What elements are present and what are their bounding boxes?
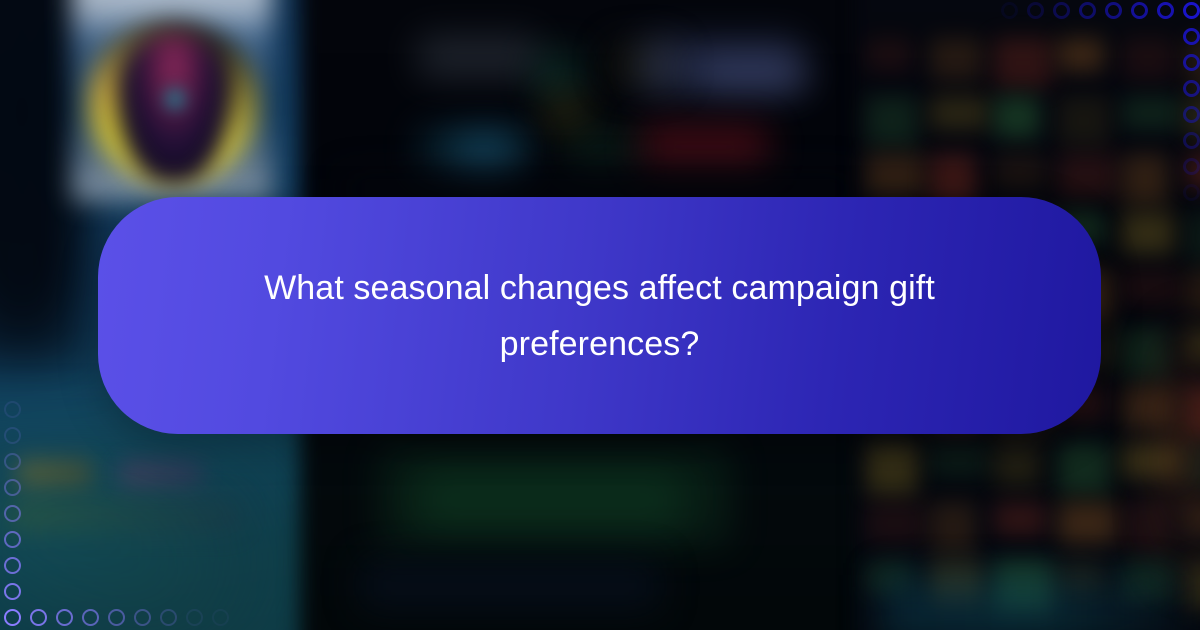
- ring-dot: [1157, 2, 1174, 19]
- background-patch: [640, 126, 768, 168]
- ring-dot: [4, 427, 21, 444]
- background-thumbnail-tile: [930, 444, 988, 478]
- ring-dot: [1027, 2, 1044, 19]
- background-thumbnail-tile: [930, 502, 976, 552]
- background-patch: [455, 134, 513, 172]
- background-thumbnail-tile: [930, 38, 982, 80]
- ring-dot: [1131, 2, 1148, 19]
- ring-dot: [1183, 184, 1200, 201]
- background-right-glow: [1150, 300, 1200, 600]
- ring-dot: [1001, 2, 1018, 19]
- background-thumbnail-tile: [1122, 96, 1180, 130]
- ring-dot: [1183, 54, 1200, 71]
- background-patch: [566, 130, 636, 168]
- background-thumbnail-tile: [1122, 154, 1168, 204]
- screenshot-stage: What seasonal changes affect campaign gi…: [0, 0, 1200, 630]
- background-chip-amber: [18, 460, 92, 486]
- emblem-glint: [163, 86, 187, 112]
- background-chip-green: [10, 500, 240, 530]
- background-thumbnail-tile: [866, 154, 924, 196]
- background-thumbnail-tile: [1058, 96, 1110, 146]
- background-thumbnail-tile: [1058, 502, 1116, 544]
- background-thumbnail-tile: [1122, 38, 1174, 80]
- background-thumbnail-tile: [994, 154, 1046, 188]
- background-thumbnail-tile: [930, 96, 988, 130]
- background-patch: [420, 470, 680, 530]
- background-thumbnail-tile: [994, 444, 1040, 486]
- ring-dot: [1105, 2, 1122, 19]
- ring-dot: [56, 609, 73, 626]
- background-patch: [535, 52, 581, 96]
- background-thumbnail-tile: [1058, 444, 1110, 494]
- ring-dot: [4, 505, 21, 522]
- ring-dot: [1183, 158, 1200, 175]
- background-patch: [545, 96, 587, 130]
- question-card[interactable]: What seasonal changes affect campaign gi…: [98, 197, 1101, 434]
- ring-dot: [4, 557, 21, 574]
- ring-dot: [134, 609, 151, 626]
- background-patch: [700, 60, 810, 88]
- ring-dot: [1183, 2, 1200, 19]
- ring-dot: [4, 609, 21, 626]
- ring-dot: [4, 479, 21, 496]
- ring-dot: [1183, 80, 1200, 97]
- background-patch: [360, 560, 660, 610]
- ring-dot: [1079, 2, 1096, 19]
- ring-dot: [4, 401, 21, 418]
- ring-dot: [82, 609, 99, 626]
- background-thumbnail-tile: [994, 502, 1046, 536]
- ring-dot: [30, 609, 47, 626]
- background-thumbnail-tile: [866, 502, 924, 544]
- background-patch: [418, 36, 538, 78]
- ring-dot: [160, 609, 177, 626]
- background-thumbnail-tile: [866, 38, 912, 72]
- question-text: What seasonal changes affect campaign gi…: [205, 260, 995, 372]
- background-thumbnail-tile: [1058, 154, 1116, 196]
- ring-dot: [1183, 106, 1200, 123]
- ring-dot: [1183, 28, 1200, 45]
- background-chip-violet: [120, 462, 202, 486]
- ring-dot: [4, 583, 21, 600]
- ring-dot: [186, 609, 203, 626]
- ring-dot: [212, 609, 229, 626]
- ring-dot: [4, 531, 21, 548]
- ring-dot: [4, 453, 21, 470]
- background-thumbnail-tile: [1122, 212, 1174, 254]
- background-thumbnail-tile: [994, 96, 1040, 138]
- background-bottom-teal: [880, 575, 1180, 630]
- background-thumbnail-tile: [1122, 270, 1180, 304]
- ring-dot: [108, 609, 125, 626]
- ring-dot: [1053, 2, 1070, 19]
- background-thumbnail-tile: [866, 444, 918, 494]
- background-thumbnail-tile: [866, 96, 918, 146]
- background-thumbnail-tile: [994, 38, 1052, 88]
- background-thumbnail-tile: [1058, 38, 1104, 72]
- ring-dot: [1183, 132, 1200, 149]
